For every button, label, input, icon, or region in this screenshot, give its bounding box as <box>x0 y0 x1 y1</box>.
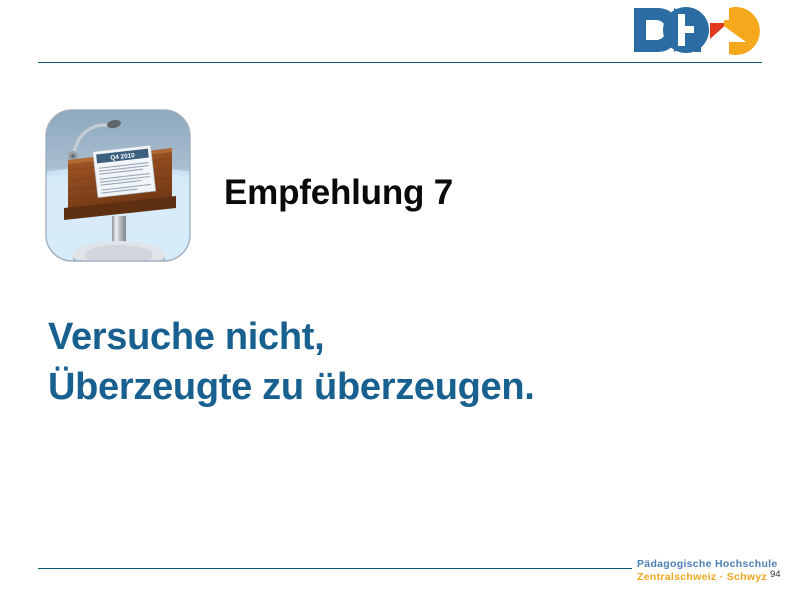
statement-text: Versuche nicht, Überzeugte zu überzeugen… <box>48 312 748 412</box>
logo-h-tail <box>694 14 701 52</box>
keynote-app-icon: Q4 2010 <box>44 108 192 263</box>
lectern-document: Q4 2010 <box>93 145 156 197</box>
page-title: Empfehlung 7 <box>224 173 453 213</box>
footer-institution: Pädagogische Hochschule <box>637 558 757 571</box>
statement-line-2: Überzeugte zu überzeugen. <box>48 362 748 412</box>
statement-line-1: Versuche nicht, <box>48 312 748 362</box>
footer-institution-block: Pädagogische Hochschule Zentralschweiz ·… <box>637 558 757 584</box>
footer-region: Zentralschweiz · Schwyz <box>637 571 757 584</box>
footer-divider <box>38 568 632 569</box>
presentation-slide: Q4 2010 Empfehlung 7 Versuche nicht <box>0 0 800 600</box>
header-divider <box>38 62 762 63</box>
microphone-mount-center <box>71 154 75 158</box>
keynote-app-icon-svg: Q4 2010 <box>44 108 192 263</box>
phz-logo-svg <box>628 4 774 56</box>
phz-logo <box>628 4 774 56</box>
page-number: 94 <box>770 569 781 580</box>
